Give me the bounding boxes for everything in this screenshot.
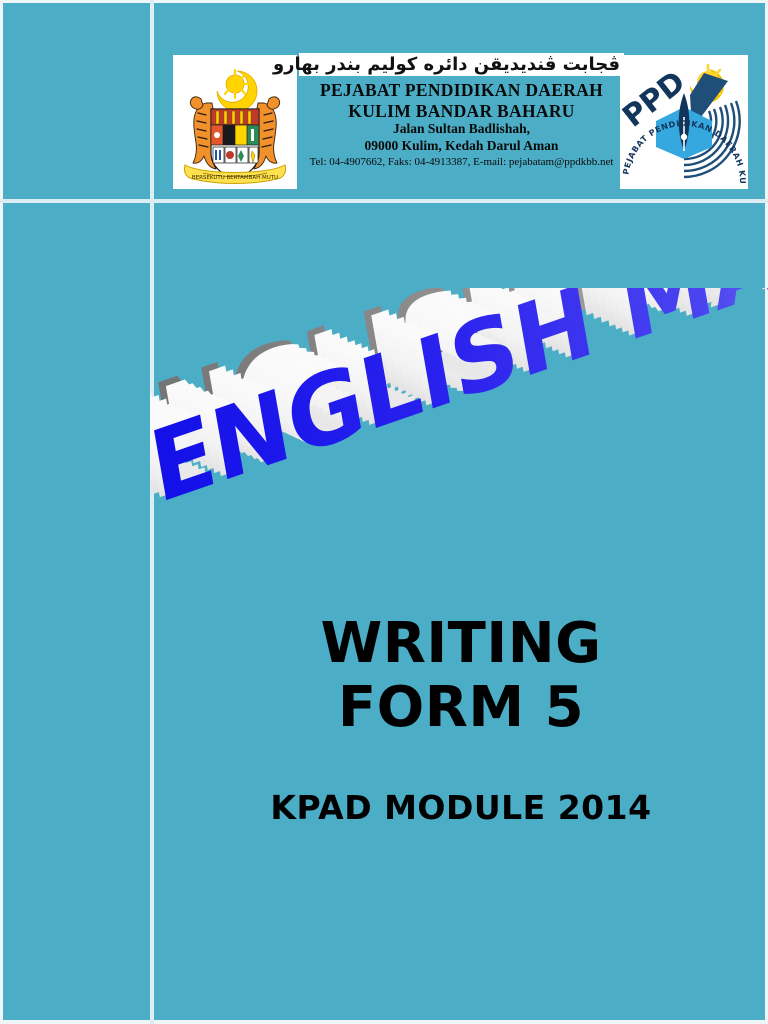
- svg-text:ENGLISH MADE EASY: ENGLISH MADE EASY: [150, 288, 768, 517]
- letterhead-header: BERSEKUTU BERTAMBAH MUTU ڤجابت ڤنديديقن …: [154, 3, 768, 199]
- address-line-2: 09000 Kulim, Kedah Darul Aman: [299, 138, 624, 154]
- svg-text:ENGLISH MADE EASY: ENGLISH MADE EASY: [150, 288, 768, 520]
- jawi-script-banner: ڤجابت ڤنديديقن دائره كوليم بندر بهارو: [299, 53, 624, 76]
- page-title: WRITING FORM 5: [154, 612, 768, 740]
- malaysia-coat-of-arms-icon: BERSEKUTU BERTAMBAH MUTU: [173, 55, 297, 189]
- page-edge-bottom: [0, 1020, 768, 1024]
- organisation-text-block: ڤجابت ڤنديديقن دائره كوليم بندر بهارو PE…: [299, 53, 624, 170]
- document-cover-page: BERSEKUTU BERTAMBAH MUTU ڤجابت ڤنديديقن …: [0, 0, 768, 1024]
- svg-text:ENGLISH MADE EASY: ENGLISH MADE EASY: [150, 288, 768, 499]
- svg-text:ENGLISH MADE EASY: ENGLISH MADE EASY: [150, 288, 768, 506]
- jawi-text: ڤجابت ڤنديديقن دائره كوليم بندر بهارو: [303, 56, 620, 74]
- ppd-logo-icon: PPD PEJABAT PENDIDIKAN DAERAH KULIM BAND…: [620, 55, 748, 189]
- wordart-text: ENGLISH MADE EASY: [150, 288, 768, 526]
- svg-text:BERSEKUTU BERTAMBAH MUTU: BERSEKUTU BERTAMBAH MUTU: [192, 175, 278, 181]
- svg-text:ENGLISH MADE EASY: ENGLISH MADE EASY: [150, 288, 768, 510]
- english-made-easy-wordart: ENGLISH MADE EASY ENGLISH MADE EASY ENGL…: [150, 288, 768, 568]
- page-subtitle: KPAD MODULE 2014: [154, 788, 768, 827]
- svg-text:ENGLISH MADE EASY: ENGLISH MADE EASY: [150, 288, 768, 514]
- org-name-line-1: PEJABAT PENDIDIKAN DAERAH: [299, 80, 624, 101]
- address-line-1: Jalan Sultan Badlishah,: [299, 121, 624, 137]
- page-edge-left: [0, 0, 3, 1024]
- svg-text:ENGLISH MADE EASY: ENGLISH MADE EASY: [150, 288, 768, 523]
- org-name-line-2: KULIM BANDAR BAHARU: [299, 101, 624, 122]
- table-gridline-horizontal: [0, 199, 768, 203]
- title-block: WRITING FORM 5 KPAD MODULE 2014: [154, 612, 768, 827]
- svg-text:ENGLISH MADE EASY: ENGLISH MADE EASY: [150, 288, 768, 503]
- contact-line: Tel: 04-4907662, Faks: 04-4913387, E-mai…: [299, 155, 624, 169]
